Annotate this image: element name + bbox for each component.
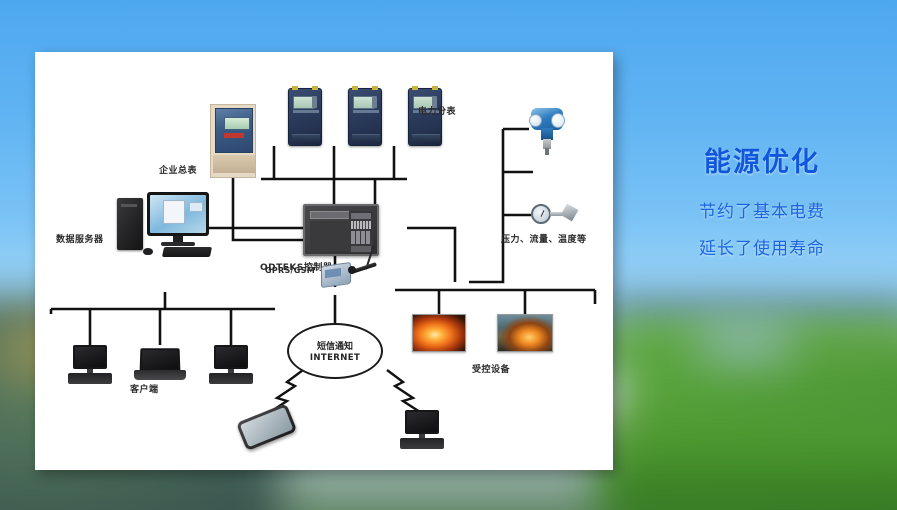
label-gprs-gsm: GPRS/GSM — [265, 266, 315, 275]
pc-monitor — [405, 410, 439, 434]
electric-sub-meter-1[interactable] — [288, 88, 322, 146]
main-meter-indicator — [224, 133, 244, 138]
label-data-server: 数据服务器 — [56, 232, 104, 245]
main-meter-unit — [215, 108, 253, 153]
pc-monitor — [73, 345, 107, 369]
transmitter-cover-cap — [551, 113, 565, 128]
pc-case — [400, 438, 444, 449]
system-architecture-diagram-panel: 企业总表 电力分表 压力、流量、温度等 — [35, 52, 613, 470]
pressure-gauge-with-probe[interactable] — [531, 202, 577, 228]
antenna-base — [348, 266, 356, 274]
pc-case — [209, 373, 253, 384]
controller-body — [310, 221, 350, 251]
controller-keypad-panel — [349, 211, 373, 253]
internet-cloud[interactable]: 短信通知 INTERNET — [287, 323, 383, 379]
server-keyboard — [162, 247, 212, 257]
main-meter-screen — [224, 117, 250, 130]
background-highlight-patch — [700, 322, 790, 362]
label-main-meter: 企业总表 — [159, 163, 197, 176]
furnace-photo-1[interactable] — [412, 314, 466, 352]
background-grass-bottom — [600, 420, 897, 510]
slide-stage: 企业总表 电力分表 压力、流量、温度等 — [0, 0, 897, 510]
controller-display — [310, 211, 350, 219]
internet-label-internet: INTERNET — [310, 353, 360, 363]
controller-terminal-strip — [351, 221, 371, 229]
transmitter-tip — [545, 148, 549, 155]
server-mouse — [143, 248, 153, 255]
server-monitor — [147, 192, 209, 236]
pressure-transmitter[interactable] — [529, 108, 565, 156]
controller-lcd — [351, 213, 371, 219]
antenna-icon — [347, 248, 381, 282]
monitor-foot — [161, 242, 195, 246]
gauge-dial — [531, 204, 551, 224]
caption-title: 能源优化 — [636, 140, 888, 179]
furnace-photo-2[interactable] — [497, 314, 553, 352]
server-tower — [117, 198, 143, 250]
client-pc-right[interactable] — [209, 345, 253, 385]
client-pc-left[interactable] — [68, 345, 112, 385]
label-sensors: 压力、流量、温度等 — [501, 232, 587, 245]
caption-line-2: 延长了使用寿命 — [636, 234, 888, 259]
pc-monitor — [214, 345, 248, 369]
pc-case — [68, 373, 112, 384]
electric-sub-meter-3[interactable] — [408, 88, 442, 146]
main-meter-base — [213, 155, 255, 173]
label-controlled-equipment: 受控设备 — [472, 362, 510, 375]
server-screen — [150, 195, 206, 233]
label-sub-meter: 电力分表 — [418, 104, 456, 117]
internet-label-sms: 短信通知 — [317, 339, 353, 352]
temperature-probe — [561, 204, 579, 222]
caption-block: 能源优化 节约了基本电费 延长了使用寿命 — [636, 140, 888, 259]
caption-line-1: 节约了基本电费 — [636, 197, 888, 222]
enterprise-main-meter[interactable] — [210, 104, 256, 178]
remote-pc[interactable] — [400, 410, 444, 450]
label-clients: 客户端 — [130, 382, 159, 395]
laptop-lid — [140, 348, 181, 371]
client-laptop[interactable] — [134, 348, 186, 382]
controller-keypad — [351, 231, 371, 244]
electric-sub-meter-2[interactable] — [348, 88, 382, 146]
transmitter-display-cap — [529, 114, 542, 127]
data-server[interactable] — [117, 192, 213, 258]
laptop-base — [134, 370, 186, 380]
